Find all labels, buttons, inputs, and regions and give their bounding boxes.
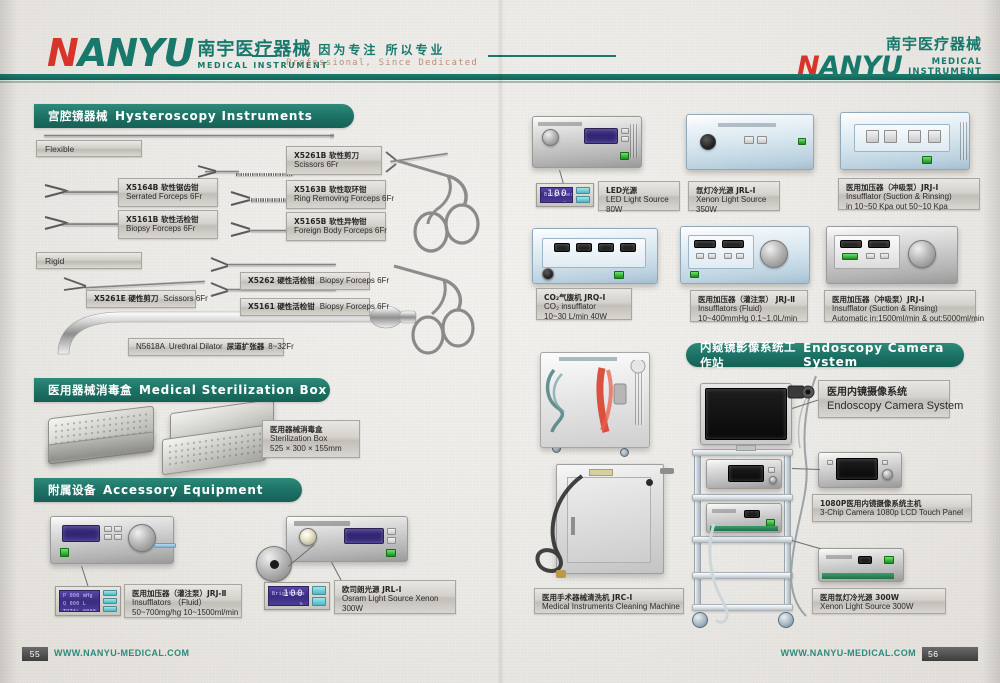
- slogan-en: Professional, Since Dedicated: [286, 59, 478, 68]
- ccu-screen: [728, 465, 764, 482]
- xenon-light-source-image: [686, 114, 814, 170]
- equipment-caption-spec: 10~30 L/min 40W: [544, 312, 624, 322]
- section-banner-sterilization-cn: 医用器械消毒盒: [48, 382, 132, 398]
- ccu-caption-en: 3-Chip Camera 1080p LCD Touch Panel: [820, 508, 964, 518]
- rigid-biopsy-jaw-icon: [208, 280, 234, 300]
- xenon-detail-caption-en: Xenon Light Source 300W: [820, 602, 938, 612]
- camera-control-unit-image: [706, 459, 782, 489]
- instrument-caption-cn: X5261B 软性剪刀: [294, 151, 374, 160]
- slogan-cn: 因为专注 所以专业: [318, 44, 445, 57]
- equipment-caption: 医用加压器（冲吸泵）JRJ-Ⅰ Insufflator (Suction & R…: [838, 178, 980, 210]
- equipment-caption-en: LED Light Source: [606, 195, 672, 205]
- instrument-caption-en: Biopsy Forceps 6Fr: [320, 302, 389, 312]
- section-banner-hysteroscopy: 宫腔镜器械 Hysteroscopy Instruments: [34, 104, 354, 128]
- insufflator-auto-image: [826, 226, 958, 284]
- cleaning-machine-caption-en: Medical Instruments Cleaning Machine: [542, 602, 676, 612]
- equipment-caption-spec: 80W: [606, 205, 672, 215]
- slogan-rule-right: [488, 55, 616, 57]
- ccu-caption-cn: 1080P医用内镜摄像系统主机: [820, 499, 964, 508]
- insufflator-fluid-2-image: [680, 226, 810, 284]
- instrument-caption-en: Scissors 6Fr: [163, 294, 207, 304]
- monitor-stand: [736, 445, 756, 451]
- group-label-rigid: Rigid: [36, 252, 142, 269]
- page-number-left: 55: [22, 647, 48, 661]
- instrument-caption-en: Ring Removing Forceps 6Fr: [294, 194, 378, 204]
- instrument-caption: X5161 硬性活检钳 Biopsy Forceps 6Fr: [240, 298, 370, 316]
- instrument-caption: X5164B 软性锯齿钳 Serrated Forceps 6Fr: [118, 178, 218, 207]
- instrument-caption-cn: X5262 硬性活检钳: [248, 276, 315, 285]
- instrument-caption: X5163B 软性取环钳 Ring Removing Forceps 6Fr: [286, 180, 386, 209]
- instrument-caption: X5161B 软性活检钳 Biopsy Forceps 6Fr: [118, 210, 218, 239]
- power-led: [620, 152, 629, 160]
- light-guide-cable-image: [700, 520, 820, 630]
- sterilization-caption-en: Sterilization Box: [270, 434, 352, 444]
- accessory-caption-cn: 医用加压器（灌注泵）JRJ-Ⅱ: [132, 589, 234, 598]
- sterilization-caption-size: 525 × 300 × 155mm: [270, 444, 352, 454]
- brand-wordmark: NANYU: [47, 34, 193, 72]
- equipment-caption-spec: 350W: [696, 205, 772, 215]
- insufflator-suction-image: [840, 112, 970, 170]
- device-display-callout: Brightness 100 %: [264, 582, 330, 610]
- dilator-size: 8~32Fr: [268, 342, 294, 352]
- connector-center: [270, 560, 279, 569]
- page-edge-right: [982, 0, 1000, 683]
- equipment-caption-spec: Automatic in:1500ml/min & out:5000ml/min: [832, 314, 968, 324]
- device-screen: [344, 528, 384, 544]
- instrument-caption: X5261E 硬性剪刀 Scissors 6Fr: [86, 290, 196, 308]
- accessory-caption-cn: 欧司朗光源 JRL-Ⅰ: [342, 585, 448, 594]
- section-banner-hysteroscopy-cn: 宫腔镜器械: [48, 108, 108, 124]
- display-value: 100: [547, 189, 568, 199]
- equipment-caption: 医用加压器（灌注泵） JRJ-Ⅱ Insufflators (Fluid) 10…: [690, 290, 808, 322]
- section-banner-camera-cn: 内窥镜影像系统工作站: [700, 339, 796, 371]
- equipment-caption-cn: 医用加压器（冲吸泵）JRJ-Ⅰ: [832, 295, 968, 304]
- slogan-block: 因为专注 所以专业 Professional, Since Dedicated: [252, 44, 616, 68]
- dilator-cn: 尿道扩张器: [227, 342, 265, 351]
- dilator-en: Urethral Dilator: [169, 342, 223, 352]
- instrument-caption-cn: X5161B 软性活检钳: [126, 215, 210, 224]
- display-value: 100: [283, 589, 304, 599]
- page-number-right: 56: [922, 647, 978, 661]
- device-display-callout: Brightness 100 %: [536, 183, 594, 207]
- equipment-caption-en: Insufflator (Suction & Rinsing): [832, 304, 968, 314]
- equipment-caption-cn: 医用加压器（冲吸泵）JRJ-Ⅰ: [846, 183, 972, 192]
- device-display-callout: P 000 mHg Q 000 L TOTAL 0000 ml: [55, 586, 121, 616]
- group-label-flexible: Flexible: [36, 140, 142, 157]
- ccu-caption: 1080P医用内镜摄像系统主机 3-Chip Camera 1080p LCD …: [812, 494, 972, 522]
- sterilization-caption-cn: 医用器械消毒盒: [270, 425, 352, 434]
- page-spine: [497, 0, 505, 683]
- camera-system-caption-en: Endoscopy Camera System: [827, 400, 941, 414]
- instrument-caption-en: Biopsy Forceps 6Fr: [320, 276, 389, 286]
- equipment-caption: LED光源 LED Light Source 80W: [598, 181, 680, 211]
- catalog-page: NANYU 南宇医疗器械 MEDICAL INSTRUMENT 因为专注 所以专…: [0, 0, 1000, 683]
- power-led: [60, 548, 69, 557]
- equipment-caption-cn: LED光源: [606, 186, 672, 195]
- instrument-caption: X5262 硬性活检钳 Biopsy Forceps 6Fr: [240, 272, 370, 290]
- instrument-tip: [330, 133, 334, 138]
- display-unit: %: [564, 201, 567, 203]
- page-edge-left: [0, 0, 18, 683]
- pump-rotor: [908, 240, 936, 268]
- section-banner-accessory: 附属设备 Accessory Equipment: [34, 478, 302, 502]
- equipment-caption-cn: 医用加压器（灌注泵） JRJ-Ⅱ: [698, 295, 800, 304]
- power-led: [690, 271, 699, 278]
- instrument-caption: X5165B 软性异物钳 Foreign Body Forceps 6Fr: [286, 212, 386, 241]
- pump-rotor: [760, 240, 788, 268]
- display-line-2: Q 000 L: [63, 601, 86, 607]
- insufflator-fluid-image: [50, 516, 174, 564]
- equipment-caption-spec: in 10~50 Kpa out 50~10 Kpa: [846, 202, 972, 212]
- equipment-caption-cn: CO₂气腹机 JRQ-Ⅰ: [544, 293, 624, 302]
- accessory-caption-spec: 50~700mg/hg 10~1500ml/min: [132, 608, 234, 618]
- footer-url-right[interactable]: WWW.NANYU-MEDICAL.COM: [781, 648, 916, 658]
- camera-system-main-caption: 医用内镜摄像系统 Endoscopy Camera System: [818, 380, 950, 418]
- brand-logo-right: 南宇医疗器械 NANYU MEDICAL INSTRUMENT: [797, 33, 982, 80]
- cleaning-cable-image: [520, 470, 600, 590]
- foreign-body-jaw-icon: [228, 220, 258, 240]
- equipment-caption-en: CO₂ insufflator: [544, 302, 624, 312]
- instrument-caption-en: Biopsy Forceps 6Fr: [126, 224, 210, 234]
- equipment-caption: CO₂气腹机 JRQ-Ⅰ CO₂ insufflator 10~30 L/min…: [536, 288, 632, 320]
- section-banner-sterilization: 医用器械消毒盒 Medical Sterilization Box: [34, 378, 330, 402]
- rigid-biopsy-jaw-icon: [208, 255, 234, 275]
- equipment-caption: 氙灯冷光源 JRL-Ⅰ Xenon Light Source 350W: [688, 181, 780, 211]
- section-banner-camera-system: 内窥镜影像系统工作站 Endoscopy Camera System: [686, 343, 964, 367]
- device-screen: [584, 128, 618, 144]
- section-banner-accessory-en: Accessory Equipment: [103, 483, 263, 497]
- accessory-caption-en: Osram Light Source Xenon: [342, 594, 448, 604]
- section-banner-sterilization-en: Medical Sterilization Box: [139, 383, 327, 397]
- accessory-caption-spec: 300W: [342, 604, 448, 614]
- sterilization-caption: 医用器械消毒盒 Sterilization Box 525 × 300 × 15…: [262, 420, 360, 458]
- instrument-shaft: [44, 134, 334, 137]
- instrument-caption-cn: X5165B 软性异物钳: [294, 217, 378, 226]
- biopsy-jaw-icon: [42, 213, 72, 233]
- section-banner-accessory-cn: 附属设备: [48, 482, 96, 498]
- footer-url-left[interactable]: WWW.NANYU-MEDICAL.COM: [54, 648, 189, 658]
- instrument-caption-en: Scissors 6Fr: [294, 160, 374, 170]
- instrument-caption-en: Foreign Body Forceps 6Fr: [294, 226, 378, 236]
- light-port: [700, 134, 716, 150]
- power-led: [798, 138, 806, 145]
- xenon-detail-caption-cn: 医用氙灯冷光源 300W: [820, 593, 938, 602]
- osram-light-source-image: [286, 516, 408, 562]
- display-line-1: P 000 mHg: [63, 593, 93, 599]
- display-unit: %: [300, 602, 303, 606]
- equipment-caption-cn: 氙灯冷光源 JRL-Ⅰ: [696, 186, 772, 195]
- instrument-caption-cn: X5261E 硬性剪刀: [94, 294, 158, 303]
- device-screen: [62, 525, 100, 542]
- equipment-caption-en: Xenon Light Source: [696, 195, 772, 205]
- power-led: [386, 549, 396, 557]
- dilator-code: N5618A: [136, 342, 165, 352]
- serrated-jaw-icon: [42, 181, 72, 201]
- accessory-caption: 欧司朗光源 JRL-Ⅰ Osram Light Source Xenon 300…: [334, 580, 456, 614]
- equipment-caption-en: Insufflators (Fluid): [698, 304, 800, 314]
- instrument-caption-cn: X5164B 软性锯齿钳: [126, 183, 210, 192]
- equipment-caption: 医用加压器（冲吸泵）JRJ-Ⅰ Insufflator (Suction & R…: [824, 290, 976, 322]
- section-banner-camera-en: Endoscopy Camera System: [803, 341, 964, 369]
- equipment-caption-spec: 10~400mmHg 0.1~1.0L/min: [698, 314, 800, 324]
- instrument-caption-cn: X5163B 软性取环钳: [294, 185, 378, 194]
- accessory-caption-en: Insufflators （Fluid）: [132, 598, 234, 608]
- camera-system-caption-cn: 医用内镜摄像系统: [827, 387, 941, 400]
- xenon-detail-caption: 医用氙灯冷光源 300W Xenon Light Source 300W: [812, 588, 946, 614]
- power-led: [842, 253, 858, 260]
- dilator-caption: N5618A Urethral Dilator 尿道扩张器 8~32Fr: [128, 338, 284, 356]
- instrument-caption-cn: X5161 硬性活检钳: [248, 302, 315, 311]
- power-led: [922, 156, 932, 164]
- instrument-caption-en: Serrated Forceps 6Fr: [126, 192, 210, 202]
- cleaning-machine-caption: 医用手术器械清洗机 JRC-Ⅰ Medical Instruments Clea…: [534, 588, 684, 614]
- co2-insufflator-image: [532, 228, 658, 284]
- instrument-shaft: [235, 173, 293, 176]
- instrument-caption: X5261B 软性剪刀 Scissors 6Fr: [286, 146, 382, 175]
- instrument-shaft: [228, 263, 336, 266]
- accessory-caption: 医用加压器（灌注泵）JRJ-Ⅱ Insufflators （Fluid） 50~…: [124, 584, 242, 618]
- light-port: [542, 129, 559, 146]
- power-led: [884, 556, 894, 564]
- section-banner-hysteroscopy-en: Hysteroscopy Instruments: [115, 109, 313, 123]
- slogan-rule-left: [252, 55, 276, 57]
- pump-rotor: [128, 524, 156, 552]
- ring-jaw-icon: [228, 189, 258, 209]
- instrument-shaft: [85, 280, 205, 289]
- display-line-3: TOTAL 0000 ml: [63, 609, 99, 612]
- equipment-caption-en: Insufflator (Suction & Rinsing): [846, 192, 972, 202]
- monitor-screen: [705, 388, 787, 440]
- led-light-source-image: [532, 116, 642, 168]
- cleaning-hoses-image: [540, 360, 652, 450]
- cleaning-machine-caption-cn: 医用手术器械清洗机 JRC-Ⅰ: [542, 593, 676, 602]
- power-led: [614, 271, 624, 279]
- light-port: [299, 528, 317, 546]
